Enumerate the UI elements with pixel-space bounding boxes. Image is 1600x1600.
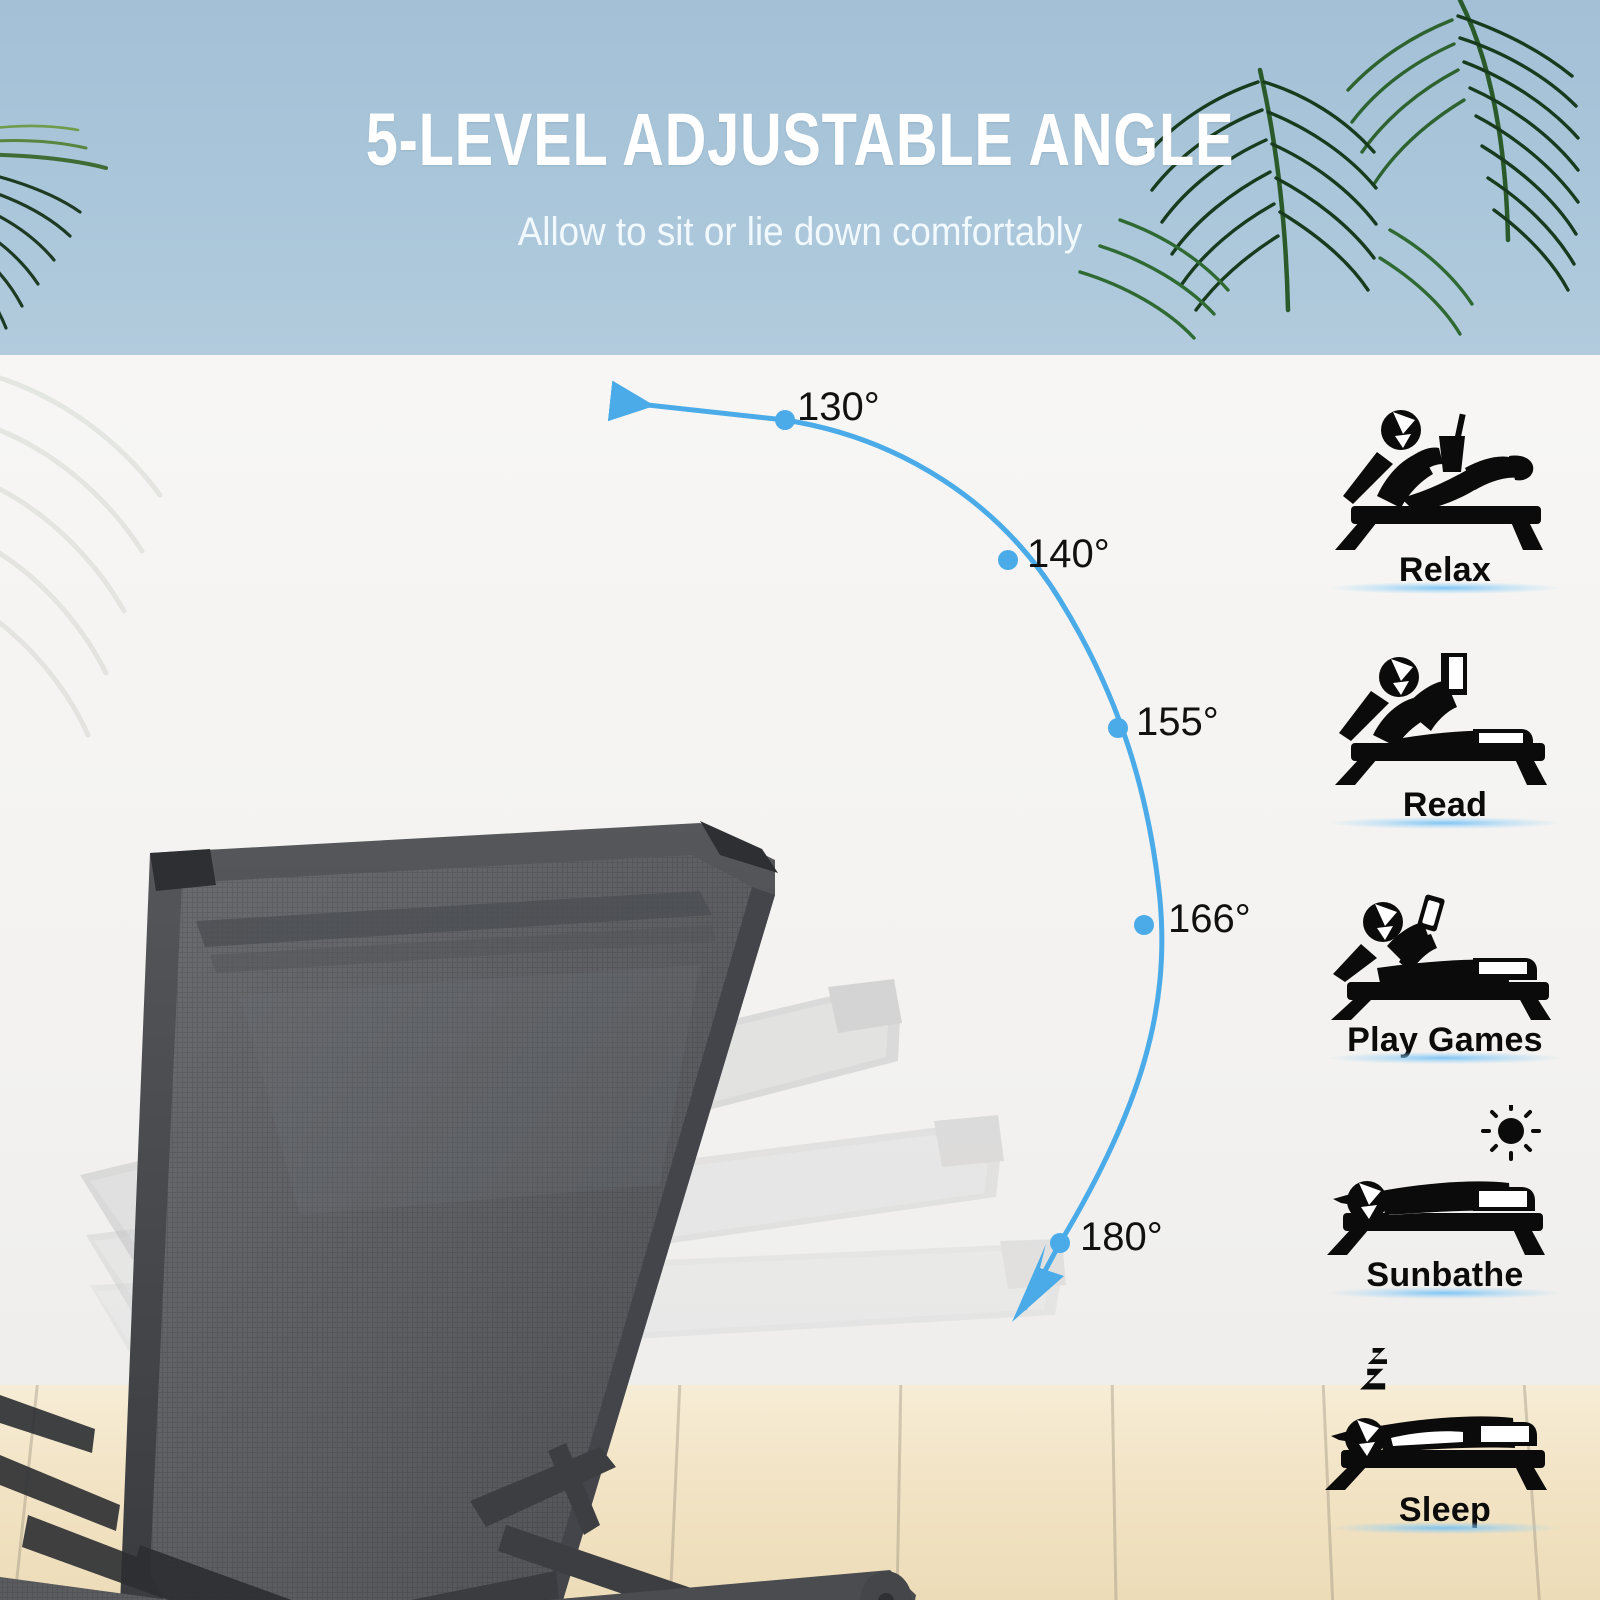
angle-dot-130 (775, 410, 795, 430)
infographic-canvas: 5-LEVEL ADJUSTABLE ANGLE Allow to sit or… (0, 0, 1600, 1600)
person-lying-flat-with-sun-icon (1290, 1105, 1600, 1255)
use-case-sleep[interactable]: Sleep (1290, 1340, 1600, 1530)
angle-dot-166 (1134, 915, 1154, 935)
use-case-label: Relax (1290, 550, 1600, 590)
angle-label-155: 155° (1136, 700, 1219, 745)
use-case-icon-panel: Relax (1290, 400, 1600, 1580)
angle-label-166: 166° (1168, 897, 1251, 942)
header-banner: 5-LEVEL ADJUSTABLE ANGLE Allow to sit or… (0, 0, 1600, 355)
use-case-read[interactable]: Read (1290, 635, 1600, 825)
person-reclining-with-drink-icon (1290, 400, 1600, 550)
use-case-label: Sunbathe (1290, 1255, 1600, 1295)
angle-label-180: 180° (1080, 1215, 1163, 1260)
use-case-play-games[interactable]: Play Games (1290, 870, 1600, 1060)
person-lying-flat-sleeping-zzz-icon (1290, 1340, 1600, 1490)
zzz-icon (1360, 1348, 1387, 1390)
page-title: 5-LEVEL ADJUSTABLE ANGLE (176, 100, 1424, 180)
angle-label-130: 130° (797, 385, 880, 430)
angle-dot-140 (998, 550, 1018, 570)
use-case-sunbathe[interactable]: Sunbathe (1290, 1105, 1600, 1295)
angle-label-140: 140° (1027, 532, 1110, 577)
person-reclining-with-phone-icon (1290, 870, 1600, 1020)
use-case-label: Sleep (1290, 1490, 1600, 1530)
use-case-label: Play Games (1290, 1020, 1600, 1060)
use-case-relax[interactable]: Relax (1290, 400, 1600, 590)
angle-dot-155 (1108, 718, 1128, 738)
person-reclining-reading-book-icon (1290, 635, 1600, 785)
use-case-label: Read (1290, 785, 1600, 825)
sun-icon (1483, 1105, 1539, 1159)
page-subtitle: Allow to sit or lie down comfortably (64, 208, 1536, 256)
angle-dot-180 (1050, 1233, 1070, 1253)
